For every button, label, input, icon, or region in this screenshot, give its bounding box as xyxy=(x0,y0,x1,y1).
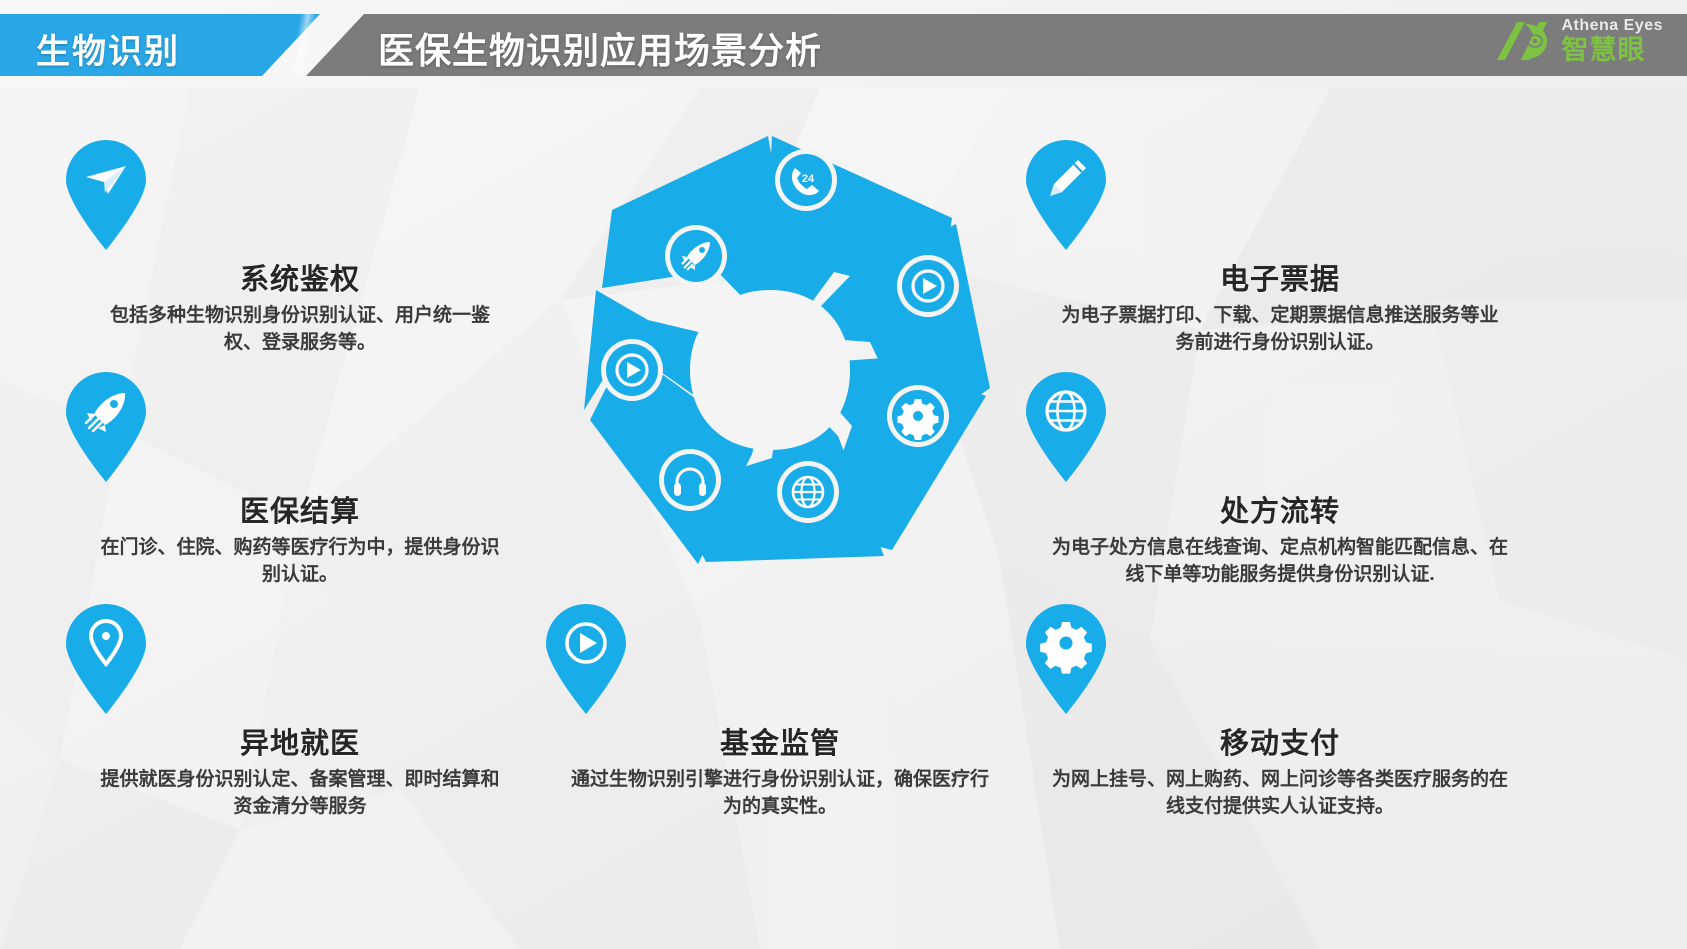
gear-icon xyxy=(898,399,939,440)
header-category-label: 生物识别 xyxy=(36,24,180,73)
card-medical-insurance-settlement: 医保结算 在门诊、住院、购药等医疗行为中，提供身份识别认证。 xyxy=(60,372,540,589)
map-pin-pin-icon xyxy=(60,604,540,716)
header-diagonal-sliver xyxy=(268,14,338,76)
card-system-auth: 系统鉴权 包括多种生物识别身份识别认证、用户统一鉴权、登录服务等。 xyxy=(60,140,540,357)
card-description: 在门诊、住院、购药等医疗行为中，提供身份识别认证。 xyxy=(60,535,540,589)
card-prescription-circulation: 处方流转 为电子处方信息在线查询、定点机构智能匹配信息、在线下单等功能服务提供身… xyxy=(1020,372,1540,589)
logo-english-name: Athena Eyes xyxy=(1561,18,1663,34)
card-electronic-bill: 电子票据 为电子票据打印、下载、定期票据信息推送服务等业务前进行身份识别认证。 xyxy=(1020,140,1540,357)
card-title: 移动支付 xyxy=(1020,720,1540,762)
card-title: 医保结算 xyxy=(60,488,540,530)
card-description: 包括多种生物识别身份识别认证、用户统一鉴权、登录服务等。 xyxy=(60,303,540,357)
ae-monogram-icon xyxy=(1491,18,1553,64)
pencil-pin-icon xyxy=(1020,140,1540,252)
card-fund-supervision: 基金监管 通过生物识别引擎进行身份识别认证，确保医疗行为的真实性。 xyxy=(540,604,1020,821)
hexagon-shutter-diagram: 24 xyxy=(520,120,1020,590)
play-circle-pin-icon xyxy=(540,604,1020,716)
gear-pin-icon xyxy=(1020,604,1540,716)
paper-plane-pin-icon xyxy=(60,140,540,252)
card-title: 电子票据 xyxy=(1020,256,1540,298)
card-title: 系统鉴权 xyxy=(60,256,540,298)
brand-logo: Athena Eyes 智慧眼 xyxy=(1491,18,1663,64)
card-title: 基金监管 xyxy=(540,720,1020,762)
card-description: 为电子处方信息在线查询、定点机构智能匹配信息、在线下单等功能服务提供身份识别认证… xyxy=(1020,535,1540,589)
rocket-pin-icon xyxy=(60,372,540,484)
slide-canvas: 生物识别 医保生物识别应用场景分析 Athena Eyes 智慧眼 xyxy=(0,0,1687,949)
card-description: 为网上挂号、网上购药、网上问诊等各类医疗服务的在线支付提供实人认证支持。 xyxy=(1020,767,1540,821)
logo-chinese-name: 智慧眼 xyxy=(1561,37,1663,64)
card-description: 提供就医身份识别认定、备案管理、即时结算和资金清分等服务 xyxy=(60,767,540,821)
slide-header: 生物识别 医保生物识别应用场景分析 Athena Eyes 智慧眼 xyxy=(0,0,1687,88)
page-title: 医保生物识别应用场景分析 xyxy=(378,22,822,74)
globe-pin-icon xyxy=(1020,372,1540,484)
card-title: 处方流转 xyxy=(1020,488,1540,530)
card-description: 为电子票据打印、下载、定期票据信息推送服务等业务前进行身份识别认证。 xyxy=(1020,303,1540,357)
card-offsite-medical-treatment: 异地就医 提供就医身份识别认定、备案管理、即时结算和资金清分等服务 xyxy=(60,604,540,821)
svg-text:24: 24 xyxy=(802,173,815,185)
card-mobile-payment: 移动支付 为网上挂号、网上购药、网上问诊等各类医疗服务的在线支付提供实人认证支持… xyxy=(1020,604,1540,821)
card-description: 通过生物识别引擎进行身份识别认证，确保医疗行为的真实性。 xyxy=(540,767,1020,821)
card-title: 异地就医 xyxy=(60,720,540,762)
